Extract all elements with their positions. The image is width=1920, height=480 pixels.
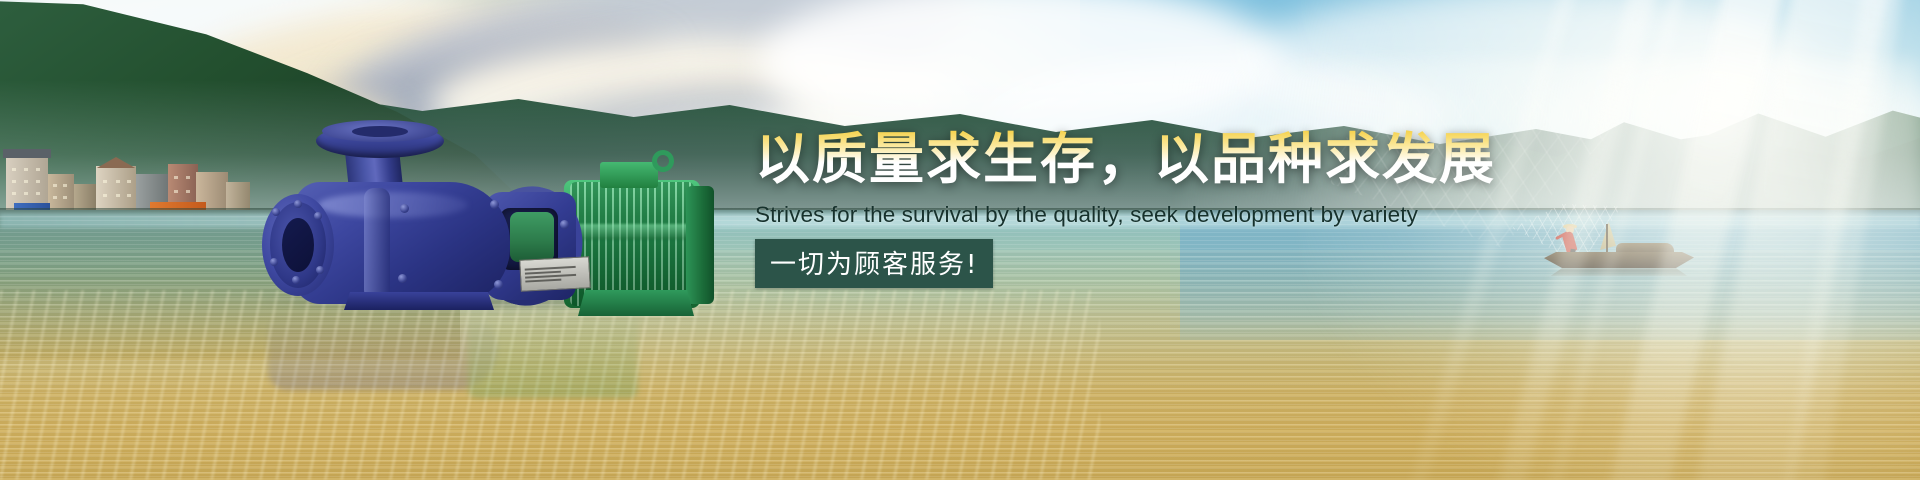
bracket-bolt (490, 200, 499, 209)
flange-bolt (316, 266, 324, 274)
hero-banner: 以质量求生存，以品种求发展 Strives for the survival b… (0, 0, 1920, 480)
pump-motor-end-cap (686, 186, 714, 304)
flange-bolt (294, 200, 302, 208)
pump-discharge-bore (352, 126, 408, 137)
centrifugal-pump (248, 108, 678, 308)
pump-motor-base (578, 290, 694, 316)
pump-coupling (510, 212, 554, 262)
pump-motor-highlight (564, 224, 700, 240)
boat-hull (1544, 252, 1694, 268)
village-building (96, 166, 136, 214)
boat-reflection (1548, 268, 1690, 281)
casing-bolt (400, 204, 409, 213)
riverside-village (0, 132, 250, 214)
boat-mast (1606, 224, 1608, 254)
pump-motor-terminal-box (600, 162, 658, 188)
bracket-bolt (560, 220, 569, 229)
flange-bolt (272, 208, 280, 216)
flange-bolt (314, 212, 322, 220)
pump-casing-rib (364, 188, 390, 300)
bracket-bolt (494, 280, 503, 289)
casing-bolt (398, 274, 407, 283)
pump-suction-bore (282, 218, 314, 272)
banner-slogan-badge: 一切为顾客服务! (755, 239, 993, 288)
banner-subline: Strives for the survival by the quality,… (755, 202, 1515, 228)
pump-casing-highlight (318, 192, 468, 218)
banner-text-block: 以质量求生存，以品种求发展 Strives for the survival b… (755, 130, 1515, 288)
flange-bolt (270, 258, 278, 266)
banner-headline: 以质量求生存，以品种求发展 (755, 130, 1515, 189)
fishing-boat (1530, 222, 1710, 292)
flange-bolt (292, 276, 300, 284)
pump-nameplate (519, 256, 591, 292)
pump-base-foot (344, 292, 494, 310)
